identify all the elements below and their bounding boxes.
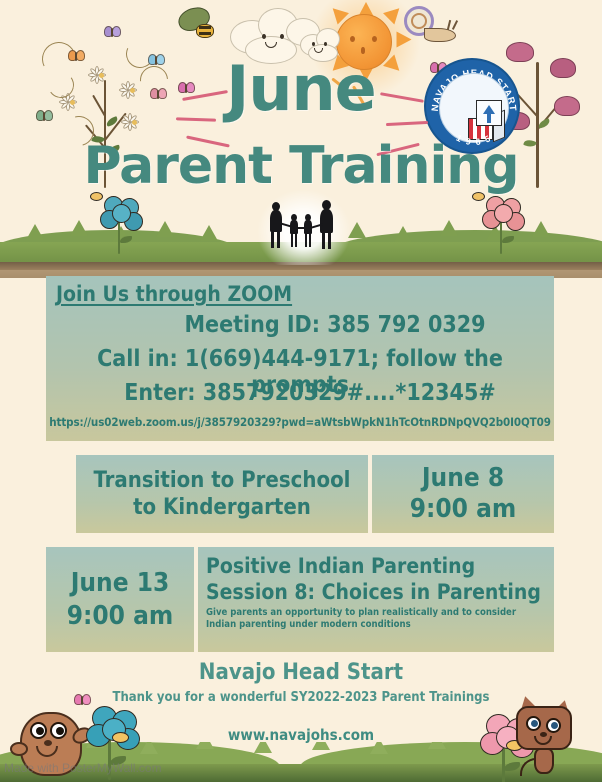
session-2-date-card: June 13 9:00 am [46,547,194,652]
zoom-meeting-link[interactable]: https://us02web.zoom.us/j/3857920329?pwd… [46,415,554,429]
accent-ray [386,121,428,126]
zoom-info-panel: Join Us through ZOOM Meeting ID: 385 792… [46,276,554,441]
session-2-time: 9:00 am [67,600,173,633]
session-2-date: June 13 [71,567,170,600]
header-scene: NAVAJO HEAD START 1 9 6 5 June Parent [0,0,602,270]
poster-watermark: Made with PosterMyWall.com [4,761,162,775]
flyer-poster: NAVAJO HEAD START 1 9 6 5 June Parent [0,0,602,782]
page-title-month: June [0,58,602,120]
family-silhouette-icon [268,200,338,255]
page-title-event: Parent Training [0,140,602,192]
session-2-description: Give parents an opportunity to plan real… [206,607,546,631]
session-2-title-line2: Session 8: Choices in Parenting [206,579,541,605]
session-1-time: 9:00 am [410,494,516,525]
zoom-meeting-id: Meeting ID: 385 792 0329 [46,312,554,338]
session-1-title-line2: to Kindergarten [133,494,311,521]
session-1-title-card: Transition to Preschool to Kindergarten [76,455,368,533]
footer-organization: Navajo Head Start [0,660,602,685]
zoom-enter-code: Enter: 3857920329#....*12345# [46,380,554,406]
session-1-date-card: June 8 9:00 am [372,455,554,533]
session-1-date: June 8 [422,463,504,494]
zoom-join-heading: Join Us through ZOOM [56,282,292,306]
session-2-title-card: Positive Indian Parenting Session 8: Cho… [198,547,554,652]
session-2-title-line1: Positive Indian Parenting [206,553,475,579]
session-1-title-line1: Transition to Preschool [94,467,351,494]
